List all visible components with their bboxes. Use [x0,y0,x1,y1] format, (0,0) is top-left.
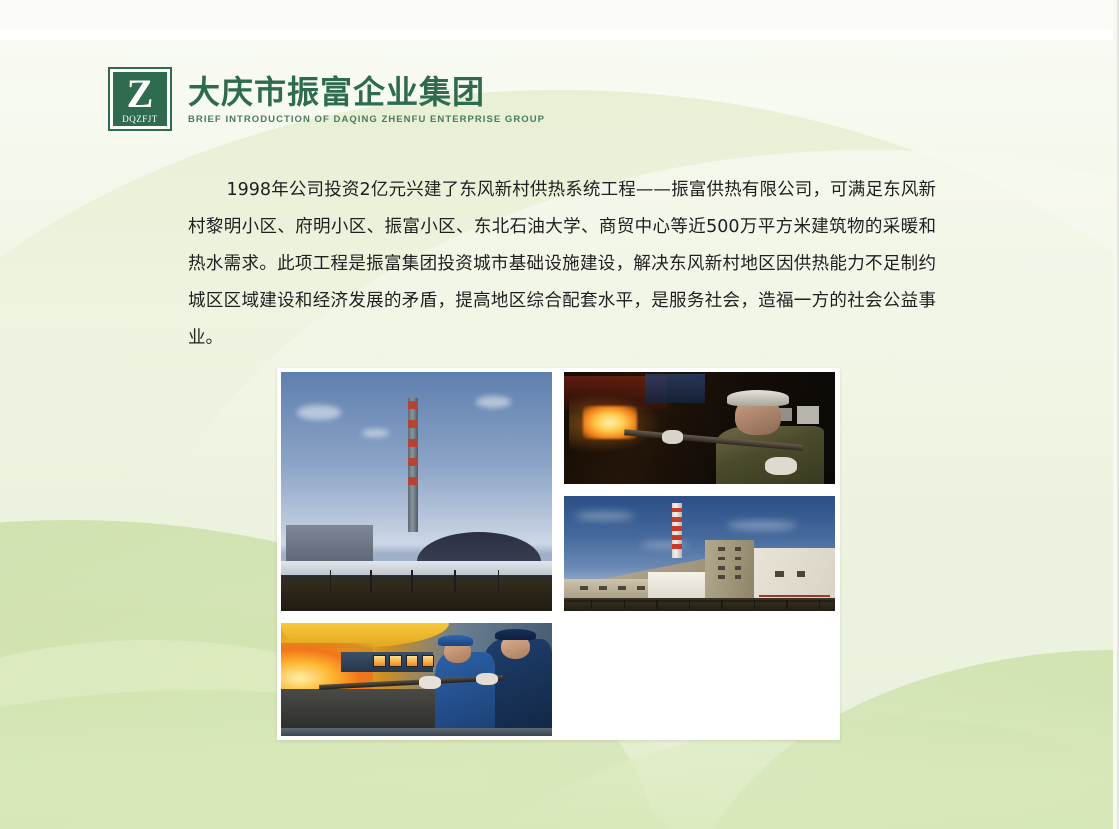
company-name-en: BRIEF INTRODUCTION OF DAQING ZHENFU ENTE… [188,114,545,125]
brand-title-block: 大庆市振富企业集团 BRIEF INTRODUCTION OF DAQING Z… [188,67,545,125]
photo-4-image [281,623,552,736]
photo-collage [277,368,840,740]
logo-abbrev: DQZFJT [122,114,158,124]
photo-1-image [281,372,552,611]
photo-two-workers-boiler [277,619,556,740]
logo-letter: Z [127,75,154,113]
photo-2-image [564,372,835,484]
body-text-block: 1998年公司投资2亿元兴建了东风新村供热系统工程——振富供热有限公司，可满足东… [188,172,936,357]
intro-paragraph: 1998年公司投资2亿元兴建了东风新村供热系统工程——振富供热有限公司，可满足东… [188,172,936,357]
photo-plant-chimney-wide [277,368,556,615]
page-top-rule [0,30,1119,40]
photo-3-image [564,496,835,611]
photo-boiler-house [560,492,839,615]
photo-column-right [560,368,839,615]
slide-page: Z DQZFJT 大庆市振富企业集团 BRIEF INTRODUCTION OF… [0,0,1119,829]
logo-inner-block: Z DQZFJT [113,72,167,126]
brand-header: Z DQZFJT 大庆市振富企业集团 BRIEF INTRODUCTION OF… [108,67,545,131]
company-logo-icon: Z DQZFJT [108,67,172,131]
company-name-cn: 大庆市振富企业集团 [188,75,545,109]
page-top-band [0,0,1119,30]
photo-worker-furnace-dark [560,368,839,488]
